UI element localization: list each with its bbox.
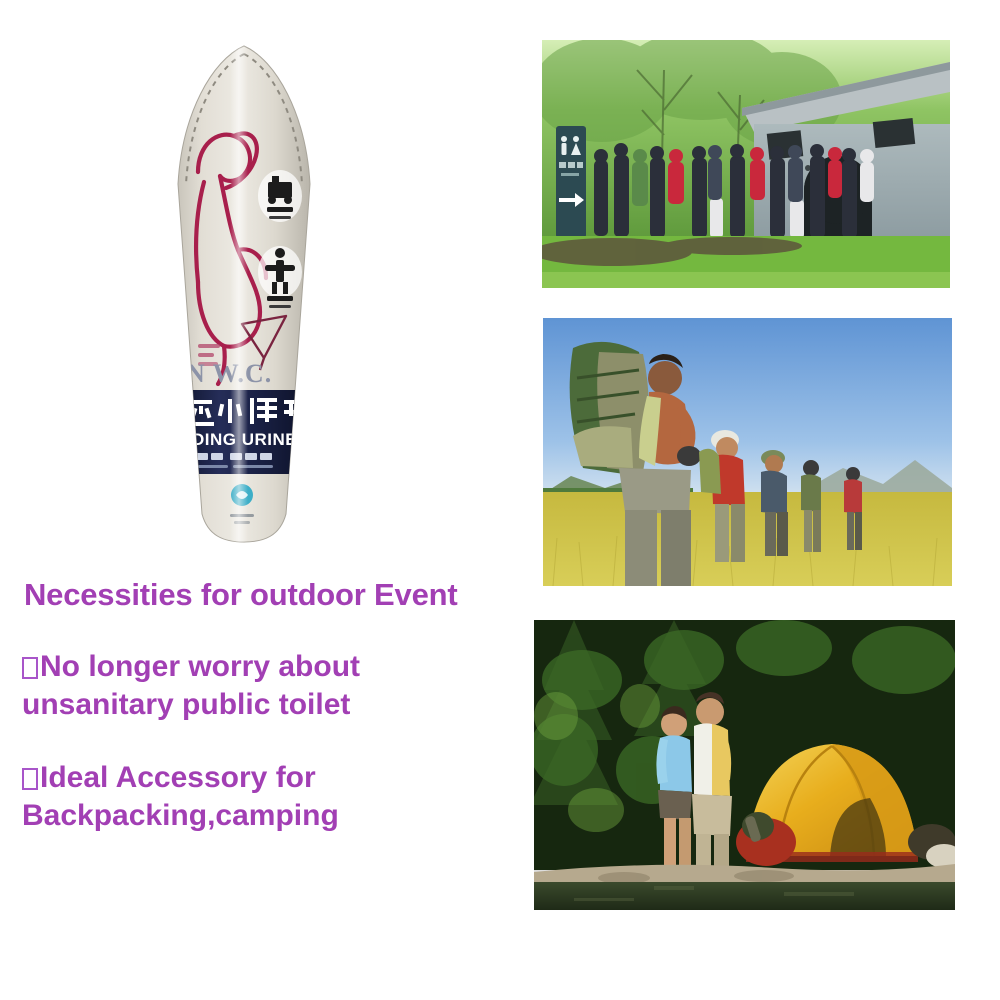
photo-public-toilet-queue [542, 40, 950, 288]
marketing-copy: Necessities for outdoor Event No longer … [18, 578, 518, 836]
lake-water [534, 882, 955, 910]
product-image: N W.C. [168, 44, 320, 544]
tofu-box-icon [22, 768, 38, 790]
restroom-sign [556, 126, 586, 238]
tofu-box-icon [22, 657, 38, 679]
product-illustration: N W.C. [168, 44, 320, 544]
camping-scene [534, 620, 955, 910]
hygiene-pictogram-badge [258, 170, 302, 222]
hiking-scene [543, 318, 952, 586]
photo-hikers-in-field [543, 318, 952, 586]
grass-field [543, 492, 952, 586]
bullet-1-line-1: No longer worry about [40, 650, 360, 683]
photo-couple-camping-by-lake [534, 620, 955, 910]
bullet-2-line-2: Backpacking,camping [22, 797, 518, 835]
gloss-highlight [230, 44, 248, 544]
bullet-1-line-2: unsanitary public toilet [22, 686, 518, 724]
page-title: Necessities for outdoor Event [24, 578, 518, 612]
bullet-item-2: Ideal Accessory for Backpacking,camping [22, 759, 518, 836]
queue-scene [542, 40, 950, 288]
brand-wordmark: N W.C. [186, 359, 272, 388]
bullet-item-1: No longer worry about unsanitary public … [22, 648, 518, 725]
product-listing-image: N W.C. [0, 0, 1000, 1000]
bullet-2-line-1: Ideal Accessory for [40, 761, 316, 794]
